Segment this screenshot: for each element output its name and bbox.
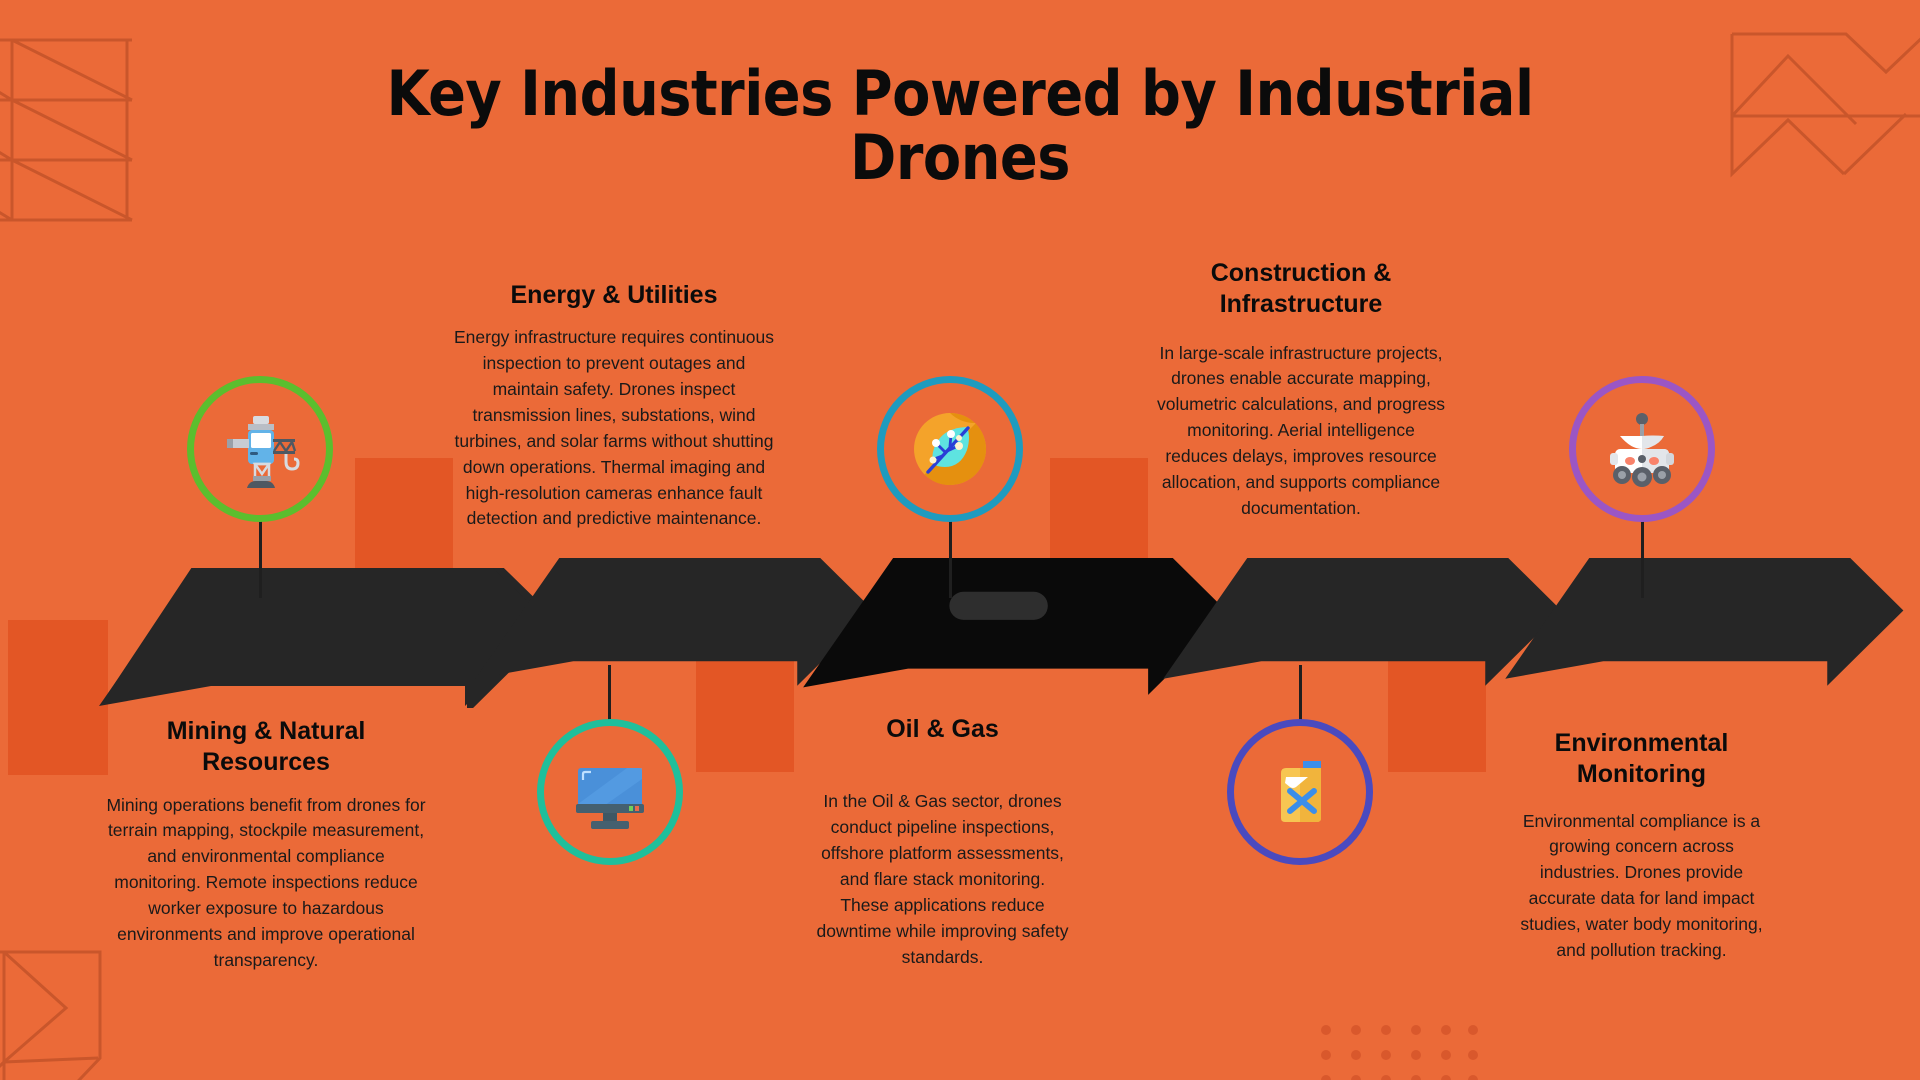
monitor-icon [567,749,653,835]
section-heading: Construction & Infrastructure [1156,258,1446,321]
crane-icon [217,406,303,492]
icon-node-oilgas[interactable] [877,376,1023,522]
satellite-rover-icon [1596,403,1688,495]
section-heading: Oil & Gas [815,714,1070,745]
connector-stem-3 [949,520,952,598]
section-heading: Mining & Natural Resources [106,716,426,779]
accent-block-1 [8,620,108,775]
section-body: Environmental compliance is a growing co… [1514,809,1769,964]
section-body: In large-scale infrastructure projects, … [1156,341,1446,522]
section-heading: Energy & Utilities [448,280,780,311]
section-body: In the Oil & Gas sector, drones conduct … [815,789,1070,970]
section-construction: Construction & Infrastructure In large-s… [1156,258,1446,522]
page-title: Key Industries Powered by Industrial Dro… [370,62,1550,191]
ribbon-chevron-decoration [1726,0,1920,224]
icon-node-mining[interactable] [187,376,333,522]
icon-node-energy[interactable] [537,719,683,865]
icon-node-environmental[interactable] [1569,376,1715,522]
section-heading: Environmental Monitoring [1514,728,1769,791]
dot-grid-decoration [1318,1022,1478,1080]
icon-node-construction[interactable] [1227,719,1373,865]
arrow-pill-accent [949,592,1047,620]
section-mining: Mining & Natural Resources Mining operat… [106,716,426,974]
infographic-canvas: Key Industries Powered by Industrial Dro… [0,0,1920,1080]
section-oilgas: Oil & Gas In the Oil & Gas sector, drone… [815,714,1070,970]
connector-stem-1 [259,520,262,598]
triangle-grid-decoration [0,30,202,290]
connector-stem-5 [1641,520,1644,598]
section-body: Mining operations benefit from drones fo… [106,793,426,974]
section-body: Energy infrastructure requires continuou… [448,325,780,532]
section-energy: Energy & Utilities Energy infrastructure… [448,280,780,532]
eco-leaf-icon [904,403,996,495]
fuel-canister-icon [1257,749,1343,835]
flow-arrow-5 [1478,558,1920,698]
section-environmental: Environmental Monitoring Environmental c… [1514,728,1769,964]
